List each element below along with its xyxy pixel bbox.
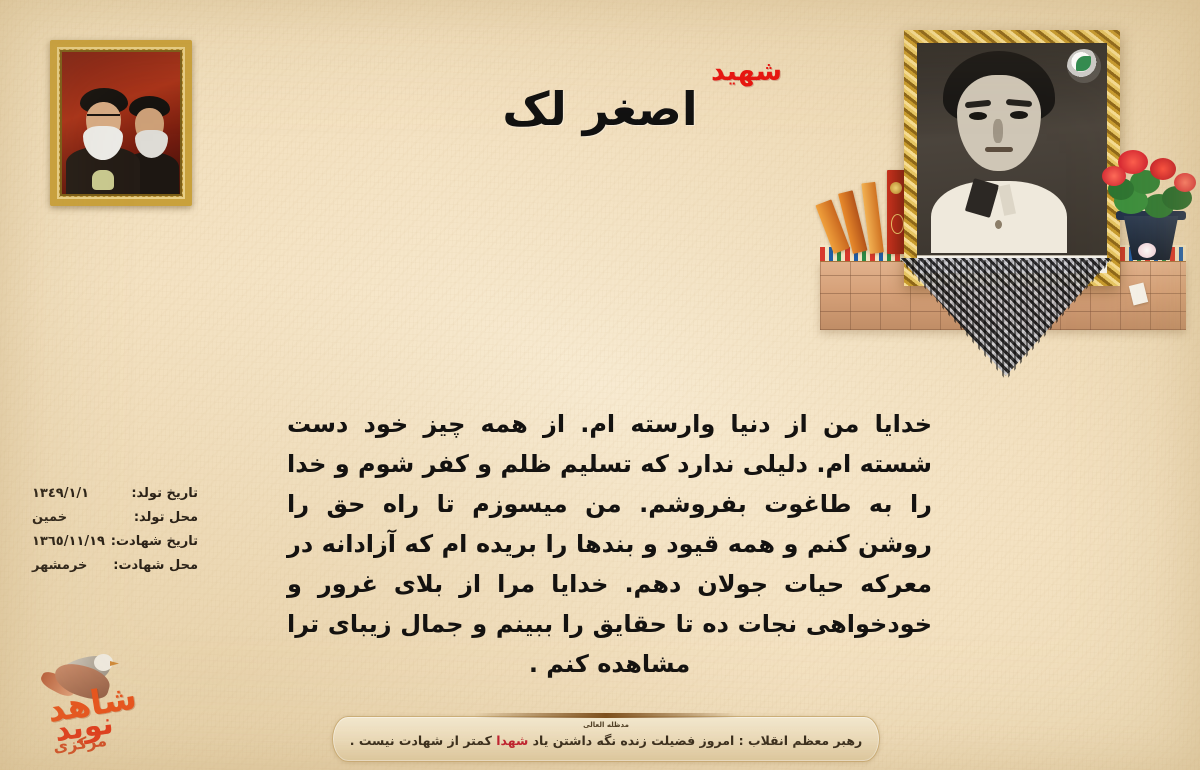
table-row: تاریخ تولد: ١٣٤٩/١/١ <box>28 486 198 501</box>
martyr-portrait-frame: سایت نوید شاهد <box>904 30 1120 286</box>
leader-quote-banner: مدظله العالی رهبر معظم انقلاب : امروز فض… <box>332 716 880 762</box>
martyr-will-text: خدایا من از دنیا وارسته ام. از همه چیز خ… <box>287 404 932 684</box>
martyr-memorial-poster: شهید اصغر لک <box>0 0 1200 770</box>
table-row: تاریخ شهادت: ١٣٦٥/١١/١٩ <box>28 534 198 549</box>
portrait-necklace <box>995 220 1002 229</box>
book-medallion-icon <box>890 182 902 194</box>
info-label-birth-date: تاریخ تولد: <box>131 486 198 501</box>
portrait-nose <box>993 119 1003 143</box>
dove-beak <box>110 661 119 666</box>
quote-speaker: رهبر معظم انقلاب : <box>739 733 863 748</box>
table-row: محل تولد: خمین <box>28 510 198 525</box>
info-value-martyrdom-place: خرمشهر <box>28 558 87 573</box>
memorial-shelf-scene: سایت نوید شاهد <box>808 22 1200 370</box>
quote-top-bar <box>474 713 737 718</box>
info-value-birth-place: خمین <box>28 510 67 525</box>
navid-shahed-watermark-icon <box>1067 49 1101 83</box>
martyr-info-table: تاریخ تولد: ١٣٤٩/١/١ محل تولد: خمین تاری… <box>28 486 198 582</box>
info-value-martyrdom-date: ١٣٦٥/١١/١٩ <box>28 534 105 549</box>
watermark-leaf-glyph <box>1076 56 1091 71</box>
navid-shahed-logo[interactable]: شاهد نوید مرکزی <box>18 652 150 756</box>
info-label-birth-place: محل تولد: <box>134 510 198 525</box>
info-value-birth-date: ١٣٤٩/١/١ <box>28 486 89 501</box>
quote-honorific: مدظله العالی <box>332 721 880 729</box>
info-label-martyrdom-date: تاریخ شهادت: <box>111 534 198 549</box>
plant-flower-white <box>1138 243 1156 258</box>
quote-part-before: امروز فضیلت زنده نگه داشتن یاد <box>533 733 735 748</box>
leader-front-sash <box>92 170 114 190</box>
portrait-eye-left <box>969 112 987 120</box>
plant-flower <box>1174 173 1196 192</box>
portrait-mouth <box>985 147 1013 152</box>
book-ornament-icon <box>891 214 904 234</box>
portrait-eye-right <box>1010 111 1028 119</box>
table-row: محل شهادت: خرمشهر <box>28 558 198 573</box>
martyr-portrait-photo: سایت نوید شاهد <box>917 43 1107 273</box>
quote-part-after: کمتر از شهادت نیست . <box>350 733 492 748</box>
quote-highlight-word: شهدا <box>496 733 528 748</box>
plant-flower <box>1150 158 1176 180</box>
quote-text: رهبر معظم انقلاب : امروز فضیلت زنده نگه … <box>346 733 866 748</box>
plant-flower <box>1102 166 1126 186</box>
info-label-martyrdom-place: محل شهادت: <box>113 558 198 573</box>
